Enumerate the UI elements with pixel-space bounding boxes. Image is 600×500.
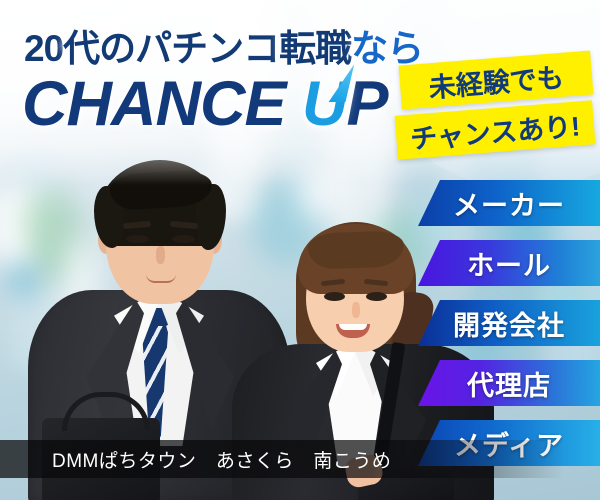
category-button-maker[interactable]: メーカー [418,180,600,226]
badge-no-experience-label: 未経験でも [427,55,565,104]
advertisement-banner[interactable]: 20代のパチンコ転職なら CHANCE UP 未経験でも チャンスあり! メーカ… [0,0,600,500]
category-button-development-company[interactable]: 開発会社 [418,300,600,346]
man-mouth [146,274,176,283]
category-button-hall[interactable]: ホール [418,240,600,286]
logo-letter-u-text: U [302,69,347,139]
man-eye-right [172,235,195,243]
headline: 20代のパチンコ転職なら [24,18,423,72]
caption-text: DMMぱちタウン あさくら 南こうめ [0,446,391,473]
headline-segment-pachinko: 代のパチンコ [63,28,279,69]
logo-chance-up: CHANCE UP [22,68,388,140]
woman-nose [352,302,360,318]
woman-eye-right [366,292,387,301]
category-button-agency[interactable]: 代理店 [418,360,600,406]
category-button-agency-label: 代理店 [467,364,551,403]
category-button-hall-label: ホール [467,244,551,283]
headline-age-number: 20 [24,28,63,69]
category-button-maker-label: メーカー [453,184,565,223]
headline-segment-nara: なら [351,28,423,69]
man-eye-left [126,235,149,243]
caption-bar: DMMぱちタウン あさくら 南こうめ [0,440,600,478]
logo-letter-u: U [302,68,347,140]
man-nose [156,246,165,264]
headline-segment-tenshoku: 転職 [279,28,351,69]
woman-eye-left [324,292,345,301]
logo-letter-p: P [347,69,388,139]
woman-teeth [339,324,367,330]
category-button-development-company-label: 開発会社 [453,304,565,343]
logo-word-chance: CHANCE [22,69,302,139]
